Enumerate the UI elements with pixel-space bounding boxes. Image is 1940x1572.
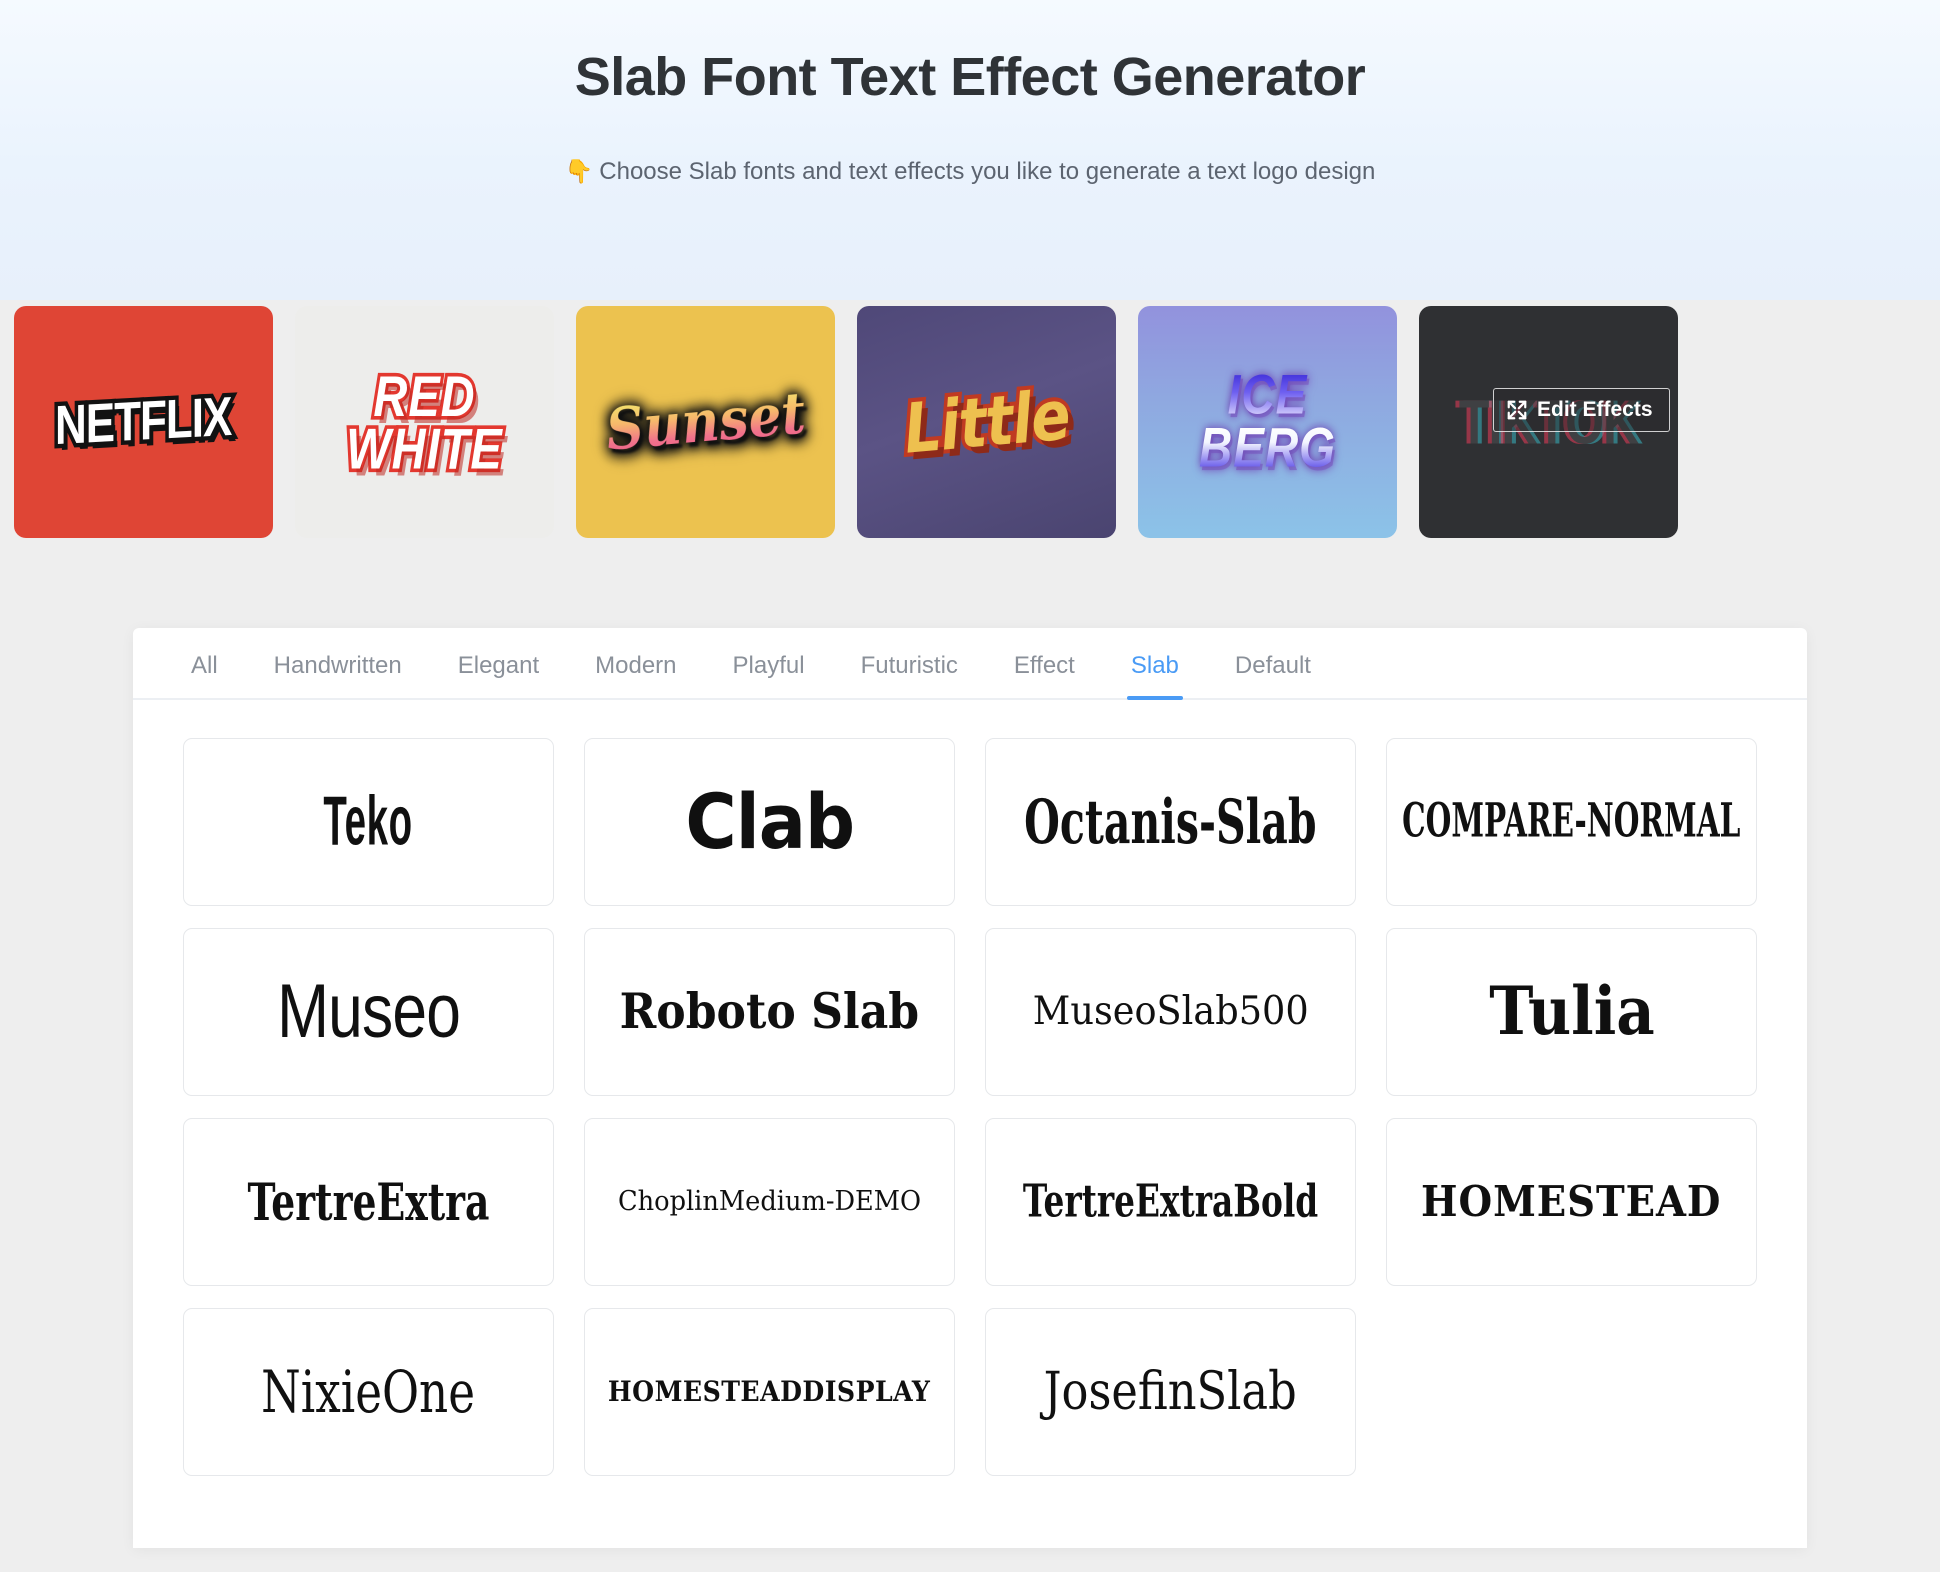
- preview-logo-line1: RED: [346, 369, 502, 422]
- font-card-compare-normal[interactable]: COMPARE-NORMAL: [1386, 738, 1757, 906]
- tab-all[interactable]: All: [163, 654, 246, 698]
- page-title: Slab Font Text Effect Generator: [0, 46, 1940, 108]
- font-card-clab[interactable]: Clab: [584, 738, 955, 906]
- font-name: Octanis-Slab: [1024, 790, 1316, 853]
- font-name: HOMESTEAD: [1421, 1180, 1721, 1224]
- font-name: TertreExtraBold: [1023, 1178, 1318, 1225]
- font-card-octanis-slab[interactable]: Octanis-Slab: [985, 738, 1356, 906]
- font-grid: Teko Clab Octanis-Slab COMPARE-NORMAL Mu…: [133, 700, 1807, 1526]
- font-name: Roboto Slab: [620, 986, 919, 1037]
- font-name: Clab: [685, 782, 854, 862]
- font-card-nixieone[interactable]: NixieOne: [183, 1308, 554, 1476]
- tab-elegant[interactable]: Elegant: [430, 654, 567, 698]
- preview-card-sunset[interactable]: Sunset: [576, 306, 835, 538]
- font-card-homestead[interactable]: HOMESTEAD: [1386, 1118, 1757, 1286]
- font-name: Museo: [277, 972, 460, 1052]
- tab-modern[interactable]: Modern: [567, 654, 704, 698]
- preview-logo-text: RED WHITE: [346, 369, 502, 474]
- font-card-museo[interactable]: Museo: [183, 928, 554, 1096]
- font-card-josefinslab[interactable]: JosefinSlab: [985, 1308, 1356, 1476]
- page-subtitle: 👇Choose Slab fonts and text effects you …: [0, 156, 1940, 187]
- font-name: HOMESTEADDISPLAY: [608, 1377, 930, 1406]
- font-name: MuseoSlab500: [1033, 992, 1309, 1033]
- preview-card-little[interactable]: Little: [857, 306, 1116, 538]
- preview-logo-line1: ICE: [1199, 370, 1336, 422]
- font-card-tertreextrabold[interactable]: TertreExtraBold: [985, 1118, 1356, 1286]
- font-name: JosefinSlab: [1044, 1365, 1297, 1420]
- font-name: ChoplinMedium-DEMO: [618, 1188, 921, 1216]
- edit-effects-label: Edit Effects: [1537, 398, 1653, 422]
- font-card-museoslab500[interactable]: MuseoSlab500: [985, 928, 1356, 1096]
- edit-effects-button[interactable]: Edit Effects: [1493, 388, 1670, 432]
- font-picker-panel: All Handwritten Elegant Modern Playful F…: [133, 628, 1807, 1548]
- font-card-choplinmedium-demo[interactable]: ChoplinMedium-DEMO: [584, 1118, 955, 1286]
- preview-card-netflix[interactable]: NETFLIX: [14, 306, 273, 538]
- hero-section: Slab Font Text Effect Generator 👇Choose …: [0, 0, 1940, 300]
- pointing-down-icon: 👇: [565, 158, 594, 184]
- font-name: COMPARE-NORMAL: [1402, 797, 1740, 846]
- page-subtitle-text: Choose Slab fonts and text effects you l…: [599, 158, 1375, 185]
- expand-icon: [1506, 399, 1528, 421]
- preview-logo-text: NETFLIX: [55, 390, 231, 454]
- font-name: Tulia: [1489, 977, 1655, 1046]
- preview-logo-text: Sunset: [604, 385, 808, 459]
- font-card-roboto-slab[interactable]: Roboto Slab: [584, 928, 955, 1096]
- tab-effect[interactable]: Effect: [986, 654, 1103, 698]
- preview-card-iceberg[interactable]: ICE BERG: [1138, 306, 1397, 538]
- tab-default[interactable]: Default: [1207, 654, 1339, 698]
- font-name: TertreExtra: [248, 1175, 490, 1229]
- category-tabs: All Handwritten Elegant Modern Playful F…: [133, 628, 1807, 700]
- preview-card-redwhite[interactable]: RED WHITE: [295, 306, 554, 538]
- tab-playful[interactable]: Playful: [705, 654, 833, 698]
- font-card-teko[interactable]: Teko: [183, 738, 554, 906]
- font-name: Teko: [324, 786, 413, 859]
- preview-card-strip[interactable]: NETFLIX RED WHITE Sunset Little ICE BERG…: [0, 306, 1940, 546]
- font-card-tulia[interactable]: Tulia: [1386, 928, 1757, 1096]
- preview-card-tiktok[interactable]: TIKTOK Edit Effects: [1419, 306, 1678, 538]
- tab-slab[interactable]: Slab: [1103, 654, 1207, 698]
- tab-handwritten[interactable]: Handwritten: [246, 654, 430, 698]
- preview-logo-text: Little: [901, 381, 1072, 464]
- preview-logo-line2: BERG: [1199, 422, 1336, 474]
- preview-logo-line2: WHITE: [346, 422, 502, 475]
- font-card-tertreextra[interactable]: TertreExtra: [183, 1118, 554, 1286]
- font-name: NixieOne: [262, 1362, 476, 1423]
- font-card-homesteaddisplay[interactable]: HOMESTEADDISPLAY: [584, 1308, 955, 1476]
- font-card-placeholder: [1386, 1308, 1757, 1476]
- tab-futuristic[interactable]: Futuristic: [833, 654, 986, 698]
- preview-logo-text: ICE BERG: [1199, 370, 1336, 475]
